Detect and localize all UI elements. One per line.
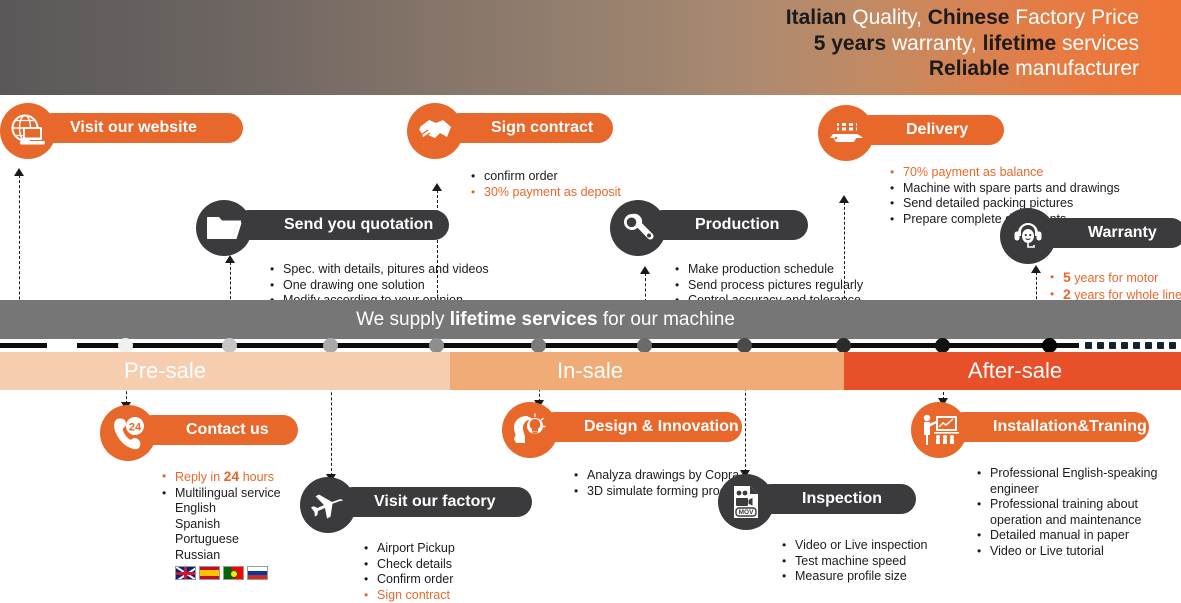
header-line-1: Italian Quality, Chinese Factory Price <box>786 5 1139 31</box>
timeline-tail-dot-7 <box>1157 342 1164 349</box>
node-inspection[interactable]: MOV Inspection Video or Live inspection … <box>718 474 928 585</box>
timeline-dot-9[interactable] <box>935 338 950 353</box>
list-item: 5 years for motor <box>1048 270 1181 287</box>
timeline-dot-3[interactable] <box>323 338 338 353</box>
warranty-text-0: years for motor <box>1071 271 1159 285</box>
ship-icon <box>818 105 874 161</box>
inspection-title: Inspection <box>766 490 882 508</box>
timeline-tail-dot-4 <box>1121 342 1128 349</box>
folder-icon <box>196 200 252 256</box>
header-l3-s1: Reliable <box>929 57 1015 80</box>
timeline-tail-dot-1 <box>1085 342 1092 349</box>
list-item: 30% payment as deposit <box>469 185 621 201</box>
list-item: Reply in 24 hours <box>160 469 281 486</box>
list-item: 70% payment as balance <box>888 165 1120 181</box>
wrench-icon <box>610 200 666 256</box>
timeline-tail-dot-3 <box>1109 342 1116 349</box>
node-design-innovation[interactable]: Design & Innovation Analyza drawings by … <box>502 402 745 499</box>
list-item: Send process pictures regularly <box>673 278 863 294</box>
production-pill[interactable]: Production <box>648 210 808 240</box>
language-flags <box>175 566 281 580</box>
design-pill[interactable]: Design & Innovation <box>540 412 742 442</box>
timeline-dot-2[interactable] <box>222 338 237 353</box>
list-item: Check details <box>362 557 455 573</box>
phone-24h-icon: 24 <box>100 405 156 461</box>
list-item: Portuguese <box>160 532 281 548</box>
stage-label-pre-sale: Pre-sale <box>70 352 260 390</box>
list-item: Spanish <box>160 517 281 533</box>
contact-reply-pre: Reply in <box>175 470 224 484</box>
timeline-axis-gap <box>47 341 77 350</box>
header-banner: Italian Quality, Chinese Factory Price 5… <box>0 0 1181 95</box>
header-l1-s1: Italian <box>786 6 853 29</box>
list-item: confirm order <box>469 169 621 185</box>
contact-bullets: Reply in 24 hours Multilingual service E… <box>160 469 281 580</box>
airplane-icon <box>300 477 356 533</box>
factory-bullets: Airport Pickup Check details Confirm ord… <box>362 541 455 603</box>
list-item: Machine with spare parts and drawings <box>888 181 1120 197</box>
handshake-icon <box>407 103 463 159</box>
stage-label-after-sale: After-sale <box>920 352 1110 390</box>
connector-website-arrow <box>14 168 24 176</box>
timeline-tail-dot-8 <box>1169 342 1176 349</box>
list-item: English <box>160 501 281 517</box>
website-title: Visit our website <box>48 119 197 137</box>
website-pill[interactable]: Visit our website <box>38 113 243 143</box>
contact-title: Contact us <box>148 421 269 439</box>
production-title: Production <box>658 216 779 234</box>
installation-pill[interactable]: Installation&Traning <box>949 412 1149 442</box>
svg-text:MOV: MOV <box>739 509 754 516</box>
headset-support-icon <box>1000 208 1056 264</box>
inspection-bullets: Video or Live inspection Test machine sp… <box>780 538 928 585</box>
banner-suffix: for our machine <box>598 309 735 330</box>
timeline-tail-dot-5 <box>1133 342 1140 349</box>
list-item: Airport Pickup <box>362 541 455 557</box>
banner-highlight: lifetime services <box>450 309 598 330</box>
russia-flag <box>247 566 268 580</box>
contract-pill[interactable]: Sign contract <box>445 113 613 143</box>
header-l2-s4: services <box>1062 32 1139 55</box>
factory-title: Visit our factory <box>348 493 496 511</box>
list-item: Russian <box>160 548 281 564</box>
stage-label-in-sale: In-sale <box>495 352 685 390</box>
list-item: Test machine speed <box>780 554 928 570</box>
timeline-dot-7[interactable] <box>737 338 752 353</box>
list-item: Multilingual service <box>160 486 281 502</box>
spain-flag <box>199 566 220 580</box>
list-item: Make production schedule <box>673 262 863 278</box>
timeline-dot-4[interactable] <box>429 338 444 353</box>
header-l2-s3: lifetime <box>983 32 1062 55</box>
header-l2-s1: 5 years <box>814 32 892 55</box>
head-lightbulb-icon <box>502 402 558 458</box>
header-l2-s2: warranty, <box>892 32 983 55</box>
globe-laptop-icon <box>0 103 56 159</box>
timeline-dot-6[interactable] <box>637 338 652 353</box>
contract-bullets: confirm order 30% payment as deposit <box>469 169 621 200</box>
quotation-pill[interactable]: Send you quotation <box>234 210 449 240</box>
list-item: Spec. with details, pitures and videos <box>268 262 489 278</box>
contact-reply-num: 24 <box>224 468 240 484</box>
header-l1-s4: Factory Price <box>1015 6 1139 29</box>
list-item: engineer <box>975 482 1157 498</box>
quotation-title: Send you quotation <box>244 216 433 234</box>
list-item: Detailed manual in paper <box>975 528 1157 544</box>
header-l1-s2: Quality, <box>852 6 927 29</box>
banner-prefix: We supply <box>356 309 450 330</box>
warranty-title: Warranty <box>1048 224 1157 242</box>
node-visit-factory[interactable]: Visit our factory Airport Pickup Check d… <box>300 477 455 603</box>
list-item: Measure profile size <box>780 569 928 585</box>
training-presentation-icon <box>911 402 967 458</box>
installation-title: Installation&Traning <box>959 418 1147 436</box>
header-l1-s3: Chinese <box>928 6 1016 29</box>
node-installation-training[interactable]: Installation&Traning Professional Englis… <box>911 402 1157 559</box>
list-item: One drawing one solution <box>268 278 489 294</box>
lifetime-services-banner: We supply lifetime services for our mach… <box>0 300 1181 339</box>
header-l3-s2: manufacturer <box>1015 57 1139 80</box>
timeline-dot-8[interactable] <box>836 338 851 353</box>
list-item: Confirm order <box>362 572 455 588</box>
list-item: operation and maintenance <box>975 513 1157 529</box>
timeline-dot-1[interactable] <box>118 338 133 353</box>
node-send-quotation[interactable]: Send you quotation Spec. with details, p… <box>196 200 489 309</box>
contact-pill[interactable]: Contact us <box>138 415 298 445</box>
header-line-3: Reliable manufacturer <box>786 56 1139 82</box>
uk-flag <box>175 566 196 580</box>
portugal-flag <box>223 566 244 580</box>
factory-pill[interactable]: Visit our factory <box>338 487 532 517</box>
list-item: Video or Live tutorial <box>975 544 1157 560</box>
installation-bullets: Professional English-speaking engineer P… <box>975 466 1157 559</box>
list-item: Professional English-speaking <box>975 466 1157 482</box>
design-title: Design & Innovation <box>550 418 739 436</box>
list-item: Video or Live inspection <box>780 538 928 554</box>
timeline-dot-5[interactable] <box>531 338 546 353</box>
banner-text: We supply lifetime services for our mach… <box>0 300 1181 339</box>
inspection-pill[interactable]: Inspection <box>756 484 916 514</box>
timeline-dot-10[interactable] <box>1042 338 1057 353</box>
video-mov-icon: MOV <box>718 474 774 530</box>
header-tagline-group: Italian Quality, Chinese Factory Price 5… <box>786 5 1139 82</box>
timeline-tail-dot-2 <box>1097 342 1104 349</box>
warranty-num-0: 5 <box>1063 269 1071 285</box>
contact-reply-post: hours <box>239 470 274 484</box>
delivery-pill[interactable]: Delivery <box>856 115 1004 145</box>
list-item: Professional training about <box>975 497 1157 513</box>
svg-text:24: 24 <box>129 422 142 434</box>
warranty-pill[interactable]: Warranty <box>1038 218 1181 248</box>
node-contact-us[interactable]: 24 Contact us Reply in 24 hours Multilin… <box>100 405 281 580</box>
timeline-tail-dot-6 <box>1145 342 1152 349</box>
node-sign-contract[interactable]: Sign contract confirm order 30% payment … <box>407 103 621 200</box>
delivery-title: Delivery <box>866 121 968 139</box>
header-line-2: 5 years warranty, lifetime services <box>786 31 1139 57</box>
contract-title: Sign contract <box>455 119 593 137</box>
